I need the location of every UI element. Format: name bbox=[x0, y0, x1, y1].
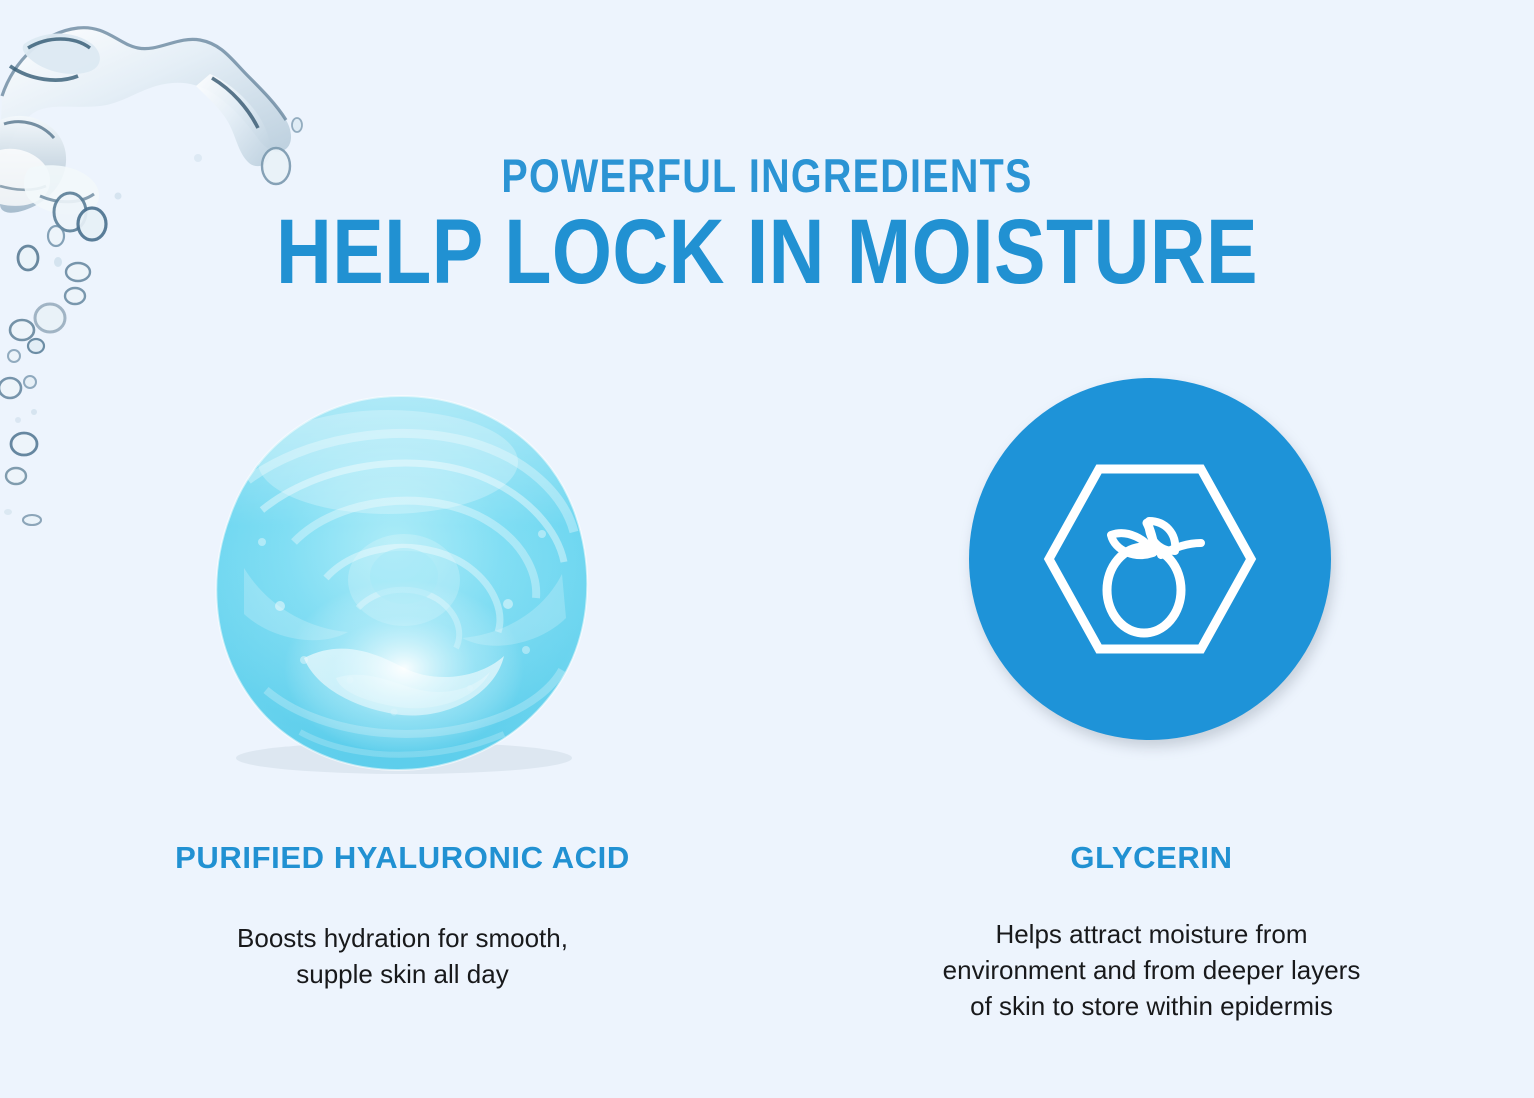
ingredient-card-hyaluronic-acid: PURIFIED HYALURONIC ACID Boosts hydratio… bbox=[0, 378, 767, 1024]
page-title: HELP LOCK IN MOISTURE bbox=[123, 204, 1412, 300]
hyaluronic-acid-visual bbox=[208, 378, 598, 778]
ingredient-columns: PURIFIED HYALURONIC ACID Boosts hydratio… bbox=[0, 378, 1534, 1024]
ingredient-description-hyaluronic-acid: Boosts hydration for smooth, supple skin… bbox=[237, 920, 568, 992]
eyebrow-text: POWERFUL INGREDIENTS bbox=[123, 150, 1412, 202]
glycerin-visual bbox=[957, 378, 1347, 778]
ingredient-name-glycerin: GLYCERIN bbox=[1070, 840, 1232, 876]
ingredient-card-glycerin: GLYCERIN Helps attract moisture from env… bbox=[767, 378, 1534, 1024]
heading-block: POWERFUL INGREDIENTS HELP LOCK IN MOISTU… bbox=[0, 150, 1534, 300]
ingredients-poster: POWERFUL INGREDIENTS HELP LOCK IN MOISTU… bbox=[0, 0, 1534, 1098]
gel-blob-icon bbox=[208, 392, 594, 774]
ingredient-description-glycerin: Helps attract moisture from environment … bbox=[943, 916, 1361, 1024]
glycerin-circle-badge bbox=[969, 378, 1331, 740]
glycerin-berry-hexagon-icon bbox=[1043, 459, 1257, 659]
ingredient-name-hyaluronic-acid: PURIFIED HYALURONIC ACID bbox=[175, 840, 630, 876]
